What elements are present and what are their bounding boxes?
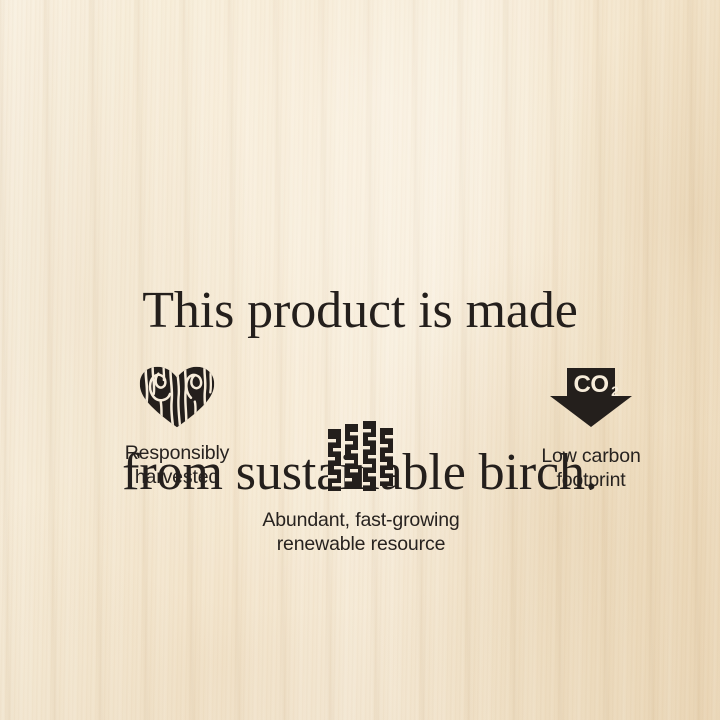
feature-caption-line-1: Abundant, fast-growing [211,508,511,532]
co2-icon-label: CO [574,371,609,398]
co2-icon-subscript: 2 [611,383,619,399]
feature-low-carbon-footprint: CO 2 Low carbon footprint [441,368,720,492]
feature-caption-line-1: Low carbon [441,444,720,468]
birch-trees-icon [328,421,394,491]
sustainable-birch-card: This product is made from sustainable bi… [0,0,720,720]
wood-grain-heart-icon [138,366,216,428]
feature-caption-line-2: renewable resource [211,532,511,556]
co2-down-arrow-icon: CO 2 [549,368,633,428]
feature-caption-line-2: footprint [441,468,720,492]
headline-line-1: This product is made [0,284,720,338]
